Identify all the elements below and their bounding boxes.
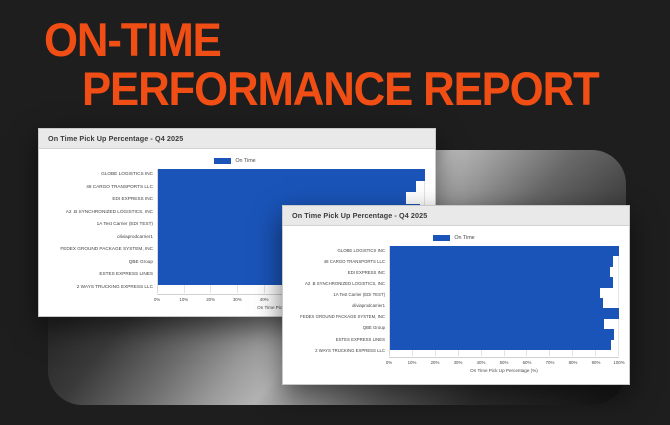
chart-bar[interactable] — [158, 192, 406, 204]
y-axis-category-label: 1A Test Carrier (EDI TEST) — [45, 219, 153, 231]
chart-bar[interactable] — [390, 319, 604, 329]
y-axis-category-label: QBE Group — [289, 323, 385, 333]
chart-bar[interactable] — [390, 267, 610, 277]
chart-bars-container — [389, 246, 619, 356]
chart-bar-row[interactable] — [390, 319, 619, 329]
x-axis-tick-label: 90% — [592, 360, 601, 365]
y-axis-category-label: 48 CARGO TRANSPORTS LLC — [289, 257, 385, 267]
chart-bar-row[interactable] — [390, 329, 619, 339]
x-axis-tick-label: 40% — [260, 297, 269, 302]
y-axis-category-label: 2 WAYS TRUCKING EXPRESS LLC — [45, 281, 153, 293]
x-axis-tick-label: 20% — [206, 297, 215, 302]
chart-bar[interactable] — [390, 298, 603, 308]
chart-bar[interactable] — [158, 169, 425, 181]
y-axis-category-label: 2 WAYS TRUCKING EXPRESS LLC — [289, 346, 385, 356]
chart-card-front-body: On Time GLOBE LOGISTICS INC48 CARGO TRAN… — [283, 226, 629, 385]
chart-bar[interactable] — [158, 181, 416, 193]
x-axis-tick-label: 10% — [408, 360, 417, 365]
chart-bar-row[interactable] — [390, 256, 619, 266]
chart-plot-area: GLOBE LOGISTICS INC48 CARGO TRANSPORTS L… — [289, 246, 619, 356]
legend-swatch-on-time — [214, 158, 231, 164]
x-axis-tick-label: 80% — [569, 360, 578, 365]
chart-bar-row[interactable] — [158, 169, 425, 181]
page-title: ON-TIME PERFORMANCE REPORT — [44, 18, 637, 110]
chart-bar-row[interactable] — [158, 181, 425, 193]
chart-axis-row: 0%10%20%30%40%50%60%70%80%90%100% On Tim… — [289, 356, 619, 385]
x-axis-tick-label: 10% — [179, 297, 188, 302]
page-title-line-2: PERFORMANCE REPORT — [82, 67, 599, 110]
y-axis-category-label: oliviaprodcarrier1 — [45, 231, 153, 243]
y-axis-category-label: oliviaprodcarrier1 — [289, 301, 385, 311]
x-axis-tick-label: 0% — [386, 360, 392, 365]
legend-swatch-on-time — [433, 235, 450, 241]
chart-bar[interactable] — [390, 308, 619, 318]
x-axis-tick-label: 70% — [546, 360, 555, 365]
x-axis-tick-label: 100% — [613, 360, 624, 365]
x-axis-title: On Time Pick Up Percentage (%) — [389, 368, 619, 373]
y-axis-category-label: A2 .B SYNCHRONIZED LOGISTICS, INC — [45, 206, 153, 218]
chart-bar[interactable] — [390, 340, 611, 350]
legend-label-on-time: On Time — [454, 235, 474, 241]
y-axis-category-label: 1A Test Carrier (EDI TEST) — [289, 290, 385, 300]
chart-bar-row[interactable] — [390, 308, 619, 318]
y-axis-category-label: EDI EXPRESS INC — [45, 194, 153, 206]
x-axis: 0%10%20%30%40%50%60%70%80%90%100% — [389, 357, 619, 366]
y-axis-category-label: QBE Group — [45, 256, 153, 268]
x-axis-tick-label: 50% — [500, 360, 509, 365]
y-axis-category-label: FEDEX GROUND PACKAGE SYSTEM, INC — [45, 244, 153, 256]
page-title-line-1: ON-TIME — [44, 18, 596, 61]
x-axis-tick-label: 30% — [233, 297, 242, 302]
y-axis-category-label: ESTES EXPRESS LINES — [45, 269, 153, 281]
chart-bar-row[interactable] — [390, 246, 619, 256]
x-axis-tick-label: 0% — [154, 297, 160, 302]
chart-bar-row[interactable] — [390, 267, 619, 277]
y-axis-category-label: GLOBE LOGISTICS INC — [289, 246, 385, 256]
x-axis-tick-label: 40% — [477, 360, 486, 365]
chart-bar-row[interactable] — [390, 288, 619, 298]
chart-bar-row[interactable] — [390, 340, 619, 350]
y-axis-category-label: A2 .B SYNCHRONIZED LOGISTICS, INC — [289, 279, 385, 289]
y-axis-category-label: 48 CARGO TRANSPORTS LLC — [45, 181, 153, 193]
chart-bar[interactable] — [390, 246, 619, 256]
chart-card-front-title: On Time Pick Up Percentage - Q4 2025 — [283, 206, 629, 226]
chart-card-front[interactable]: On Time Pick Up Percentage - Q4 2025 On … — [282, 205, 630, 385]
y-axis-category-label: FEDEX GROUND PACKAGE SYSTEM, INC — [289, 312, 385, 322]
y-axis-category-label: GLOBE LOGISTICS INC — [45, 169, 153, 181]
x-axis-tick-label: 20% — [431, 360, 440, 365]
chart-bar[interactable] — [390, 277, 613, 287]
legend-label-on-time: On Time — [235, 158, 255, 164]
chart-legend[interactable]: On Time — [45, 155, 425, 166]
chart-bar[interactable] — [390, 329, 614, 339]
chart-bar-row[interactable] — [158, 192, 425, 204]
chart-card-back-title: On Time Pick Up Percentage - Q4 2025 — [39, 129, 435, 149]
chart-bar[interactable] — [390, 256, 613, 266]
chart-bar-row[interactable] — [390, 277, 619, 287]
y-axis-category-label: EDI EXPRESS INC — [289, 268, 385, 278]
y-axis-category-labels: GLOBE LOGISTICS INC48 CARGO TRANSPORTS L… — [45, 169, 157, 293]
chart-bar-row[interactable] — [390, 298, 619, 308]
y-axis-category-label: ESTES EXPRESS LINES — [289, 335, 385, 345]
y-axis-category-labels: GLOBE LOGISTICS INC48 CARGO TRANSPORTS L… — [289, 246, 389, 356]
chart-legend[interactable]: On Time — [289, 232, 619, 243]
x-axis-tick-label: 60% — [523, 360, 532, 365]
x-axis-tick-label: 30% — [454, 360, 463, 365]
chart-bar[interactable] — [390, 288, 600, 298]
